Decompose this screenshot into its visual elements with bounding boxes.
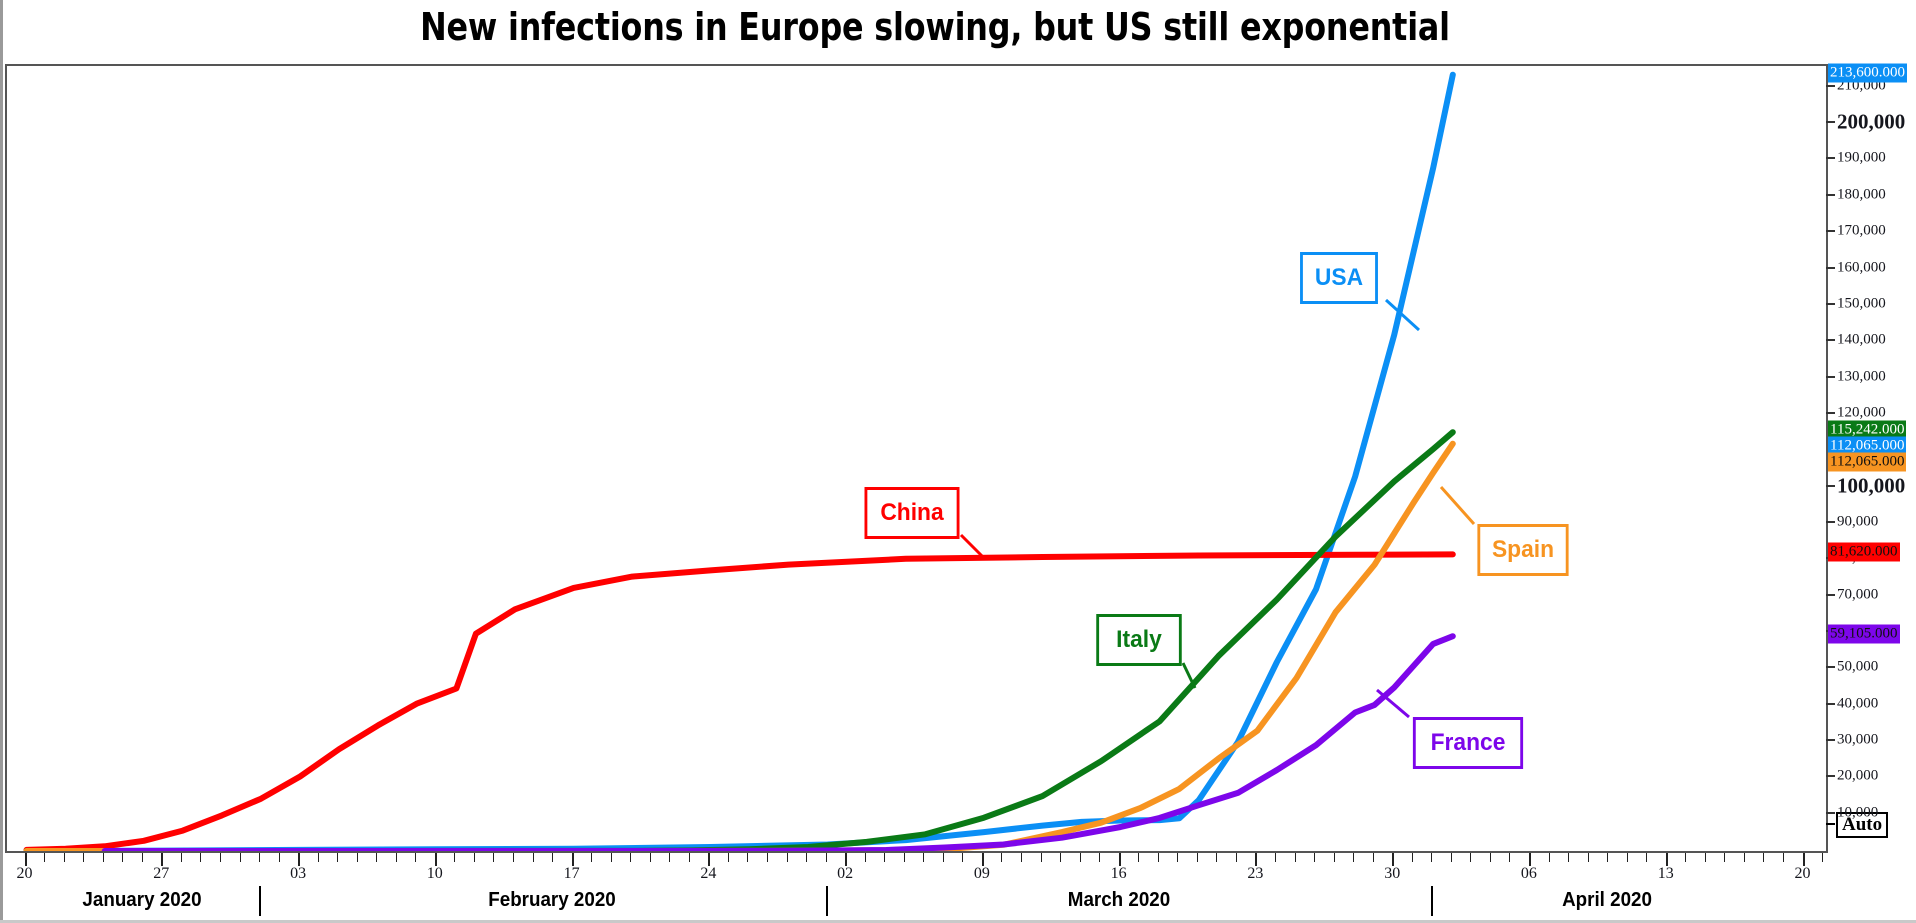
badge-spain: 112,065.000 bbox=[1828, 452, 1906, 471]
date-tick bbox=[415, 853, 416, 862]
date-tick bbox=[44, 853, 45, 862]
date-tick bbox=[1197, 853, 1198, 862]
axis-tick bbox=[1826, 485, 1835, 487]
leader-line-usa bbox=[1386, 300, 1419, 330]
date-tick bbox=[1549, 853, 1550, 862]
date-tick bbox=[1705, 853, 1706, 862]
callout-china[interactable]: China bbox=[865, 487, 960, 539]
axis-tick bbox=[1826, 666, 1835, 668]
axis-tick bbox=[1826, 521, 1835, 523]
date-tick bbox=[474, 853, 475, 862]
date-tick bbox=[806, 853, 807, 862]
leader-line-france bbox=[1377, 690, 1409, 717]
axis-tick-label: 100,000 bbox=[1837, 473, 1905, 498]
date-tick bbox=[1763, 853, 1764, 862]
axis-tick-label: 70,000 bbox=[1837, 586, 1878, 603]
date-tick-label: 24 bbox=[700, 865, 716, 883]
date-tick bbox=[1295, 853, 1296, 862]
axis-tick-label: 190,000 bbox=[1837, 150, 1886, 167]
axis-tick bbox=[1826, 703, 1835, 705]
axis-tick-label: 170,000 bbox=[1837, 223, 1886, 240]
date-tick bbox=[1158, 853, 1159, 862]
axis-tick-label: 30,000 bbox=[1837, 731, 1878, 748]
date-tick bbox=[1275, 853, 1276, 862]
date-tick bbox=[513, 853, 514, 862]
date-tick bbox=[611, 853, 612, 862]
date-tick bbox=[142, 853, 143, 862]
date-tick bbox=[1021, 853, 1022, 862]
axis-tick-label: 120,000 bbox=[1837, 404, 1886, 421]
date-tick bbox=[1353, 853, 1354, 862]
month-separator bbox=[259, 886, 261, 916]
badge-china: 81,620.000 bbox=[1828, 543, 1900, 562]
axis-tick bbox=[1826, 339, 1835, 341]
date-tick bbox=[1685, 853, 1686, 862]
axis-tick-label: 40,000 bbox=[1837, 695, 1878, 712]
date-tick bbox=[728, 853, 729, 862]
date-tick-label: 03 bbox=[290, 865, 306, 883]
date-tick bbox=[1177, 853, 1178, 862]
date-tick-label: 23 bbox=[1247, 865, 1263, 883]
date-tick bbox=[103, 853, 104, 862]
date-tick bbox=[689, 853, 690, 862]
callout-usa[interactable]: USA bbox=[1300, 252, 1378, 304]
date-tick-label: 20 bbox=[17, 865, 33, 883]
price-axis[interactable]: Auto 210,000200,000190,000180,000170,000… bbox=[1826, 64, 1916, 853]
date-tick bbox=[454, 853, 455, 862]
date-tick bbox=[1236, 853, 1237, 862]
axis-tick-label: 180,000 bbox=[1837, 186, 1886, 203]
date-tick-label: 16 bbox=[1111, 865, 1127, 883]
date-tick bbox=[767, 853, 768, 862]
axis-tick bbox=[1826, 230, 1835, 232]
month-label: April 2020 bbox=[1562, 889, 1652, 912]
axis-tick bbox=[1826, 812, 1835, 814]
date-tick bbox=[943, 853, 944, 862]
axis-tick bbox=[1826, 376, 1835, 378]
date-tick-label: 20 bbox=[1795, 865, 1811, 883]
date-tick bbox=[493, 853, 494, 862]
month-label: February 2020 bbox=[488, 889, 616, 912]
date-tick bbox=[181, 853, 182, 862]
date-tick bbox=[122, 853, 123, 862]
date-tick bbox=[240, 853, 241, 862]
date-tick bbox=[200, 853, 201, 862]
axis-tick bbox=[1826, 412, 1835, 414]
axis-tick-label: 10,000 bbox=[1837, 804, 1878, 821]
date-tick bbox=[1607, 853, 1608, 862]
date-tick-label: 30 bbox=[1384, 865, 1400, 883]
axis-tick bbox=[1826, 303, 1835, 305]
month-label: January 2020 bbox=[82, 889, 201, 912]
chart-window: New infections in Europe slowing, but US… bbox=[0, 0, 1916, 923]
callout-spain[interactable]: Spain bbox=[1477, 524, 1568, 576]
date-tick bbox=[64, 853, 65, 862]
month-label: March 2020 bbox=[1067, 889, 1169, 912]
date-tick bbox=[279, 853, 280, 862]
date-axis[interactable]: 2027031017240209162330061320January 2020… bbox=[5, 853, 1916, 923]
date-tick bbox=[396, 853, 397, 862]
plot-canvas bbox=[7, 66, 1826, 851]
date-tick bbox=[318, 853, 319, 862]
date-tick bbox=[357, 853, 358, 862]
date-tick bbox=[884, 853, 885, 862]
date-tick-label: 09 bbox=[974, 865, 990, 883]
axis-tick bbox=[1826, 594, 1835, 596]
date-tick-label: 27 bbox=[153, 865, 169, 883]
date-tick bbox=[923, 853, 924, 862]
date-tick bbox=[376, 853, 377, 862]
window-left-border bbox=[0, 0, 3, 923]
date-tick bbox=[1431, 853, 1432, 862]
axis-tick bbox=[1826, 157, 1835, 159]
plot-area[interactable] bbox=[5, 64, 1826, 853]
date-tick bbox=[1001, 853, 1002, 862]
axis-tick-label: 200,000 bbox=[1837, 110, 1905, 135]
date-tick bbox=[826, 853, 827, 862]
date-tick bbox=[747, 853, 748, 862]
date-tick bbox=[591, 853, 592, 862]
axis-tick-label: 130,000 bbox=[1837, 368, 1886, 385]
axis-tick bbox=[1826, 267, 1835, 269]
date-tick-label: 06 bbox=[1521, 865, 1537, 883]
callout-france[interactable]: France bbox=[1413, 717, 1523, 769]
date-tick bbox=[787, 853, 788, 862]
chart-title: New infections in Europe slowing, but US… bbox=[65, 4, 1804, 50]
date-tick bbox=[1490, 853, 1491, 862]
axis-tick-label: 20,000 bbox=[1837, 768, 1878, 785]
badge-france: 59,105.000 bbox=[1828, 625, 1900, 644]
date-tick bbox=[1216, 853, 1217, 862]
date-tick-label: 02 bbox=[837, 865, 853, 883]
date-tick bbox=[337, 853, 338, 862]
date-tick bbox=[1060, 853, 1061, 862]
date-tick bbox=[1568, 853, 1569, 862]
date-tick bbox=[904, 853, 905, 862]
date-tick bbox=[552, 853, 553, 862]
date-tick-label: 17 bbox=[564, 865, 580, 883]
date-tick bbox=[1099, 853, 1100, 862]
date-tick bbox=[1451, 853, 1452, 862]
axis-tick-label: 140,000 bbox=[1837, 332, 1886, 349]
axis-tick-label: 160,000 bbox=[1837, 259, 1886, 276]
date-tick bbox=[1412, 853, 1413, 862]
date-tick bbox=[865, 853, 866, 862]
date-tick bbox=[1373, 853, 1374, 862]
date-tick bbox=[1627, 853, 1628, 862]
date-tick-label: 10 bbox=[427, 865, 443, 883]
axis-tick bbox=[1826, 85, 1835, 87]
date-tick bbox=[1724, 853, 1725, 862]
date-tick bbox=[1080, 853, 1081, 862]
axis-tick-label: 50,000 bbox=[1837, 659, 1878, 676]
date-tick bbox=[1314, 853, 1315, 862]
leader-line-china bbox=[961, 535, 982, 556]
date-tick bbox=[1509, 853, 1510, 862]
date-tick bbox=[1334, 853, 1335, 862]
date-tick bbox=[1588, 853, 1589, 862]
date-tick bbox=[220, 853, 221, 862]
date-tick bbox=[669, 853, 670, 862]
axis-tick bbox=[1826, 739, 1835, 741]
leader-line-spain bbox=[1441, 487, 1474, 524]
leader-line-italy bbox=[1183, 663, 1195, 688]
axis-tick-label: 150,000 bbox=[1837, 295, 1886, 312]
date-tick bbox=[1041, 853, 1042, 862]
date-tick-label: 13 bbox=[1658, 865, 1674, 883]
badge-usa: 213,600.000 bbox=[1828, 63, 1907, 82]
date-tick bbox=[962, 853, 963, 862]
callout-leader-lines bbox=[7, 66, 1824, 851]
date-tick bbox=[259, 853, 260, 862]
axis-tick bbox=[1826, 121, 1835, 123]
date-tick bbox=[1783, 853, 1784, 862]
date-tick bbox=[650, 853, 651, 862]
axis-tick bbox=[1826, 194, 1835, 196]
date-tick bbox=[630, 853, 631, 862]
callout-italy[interactable]: Italy bbox=[1096, 614, 1182, 666]
date-tick bbox=[1822, 853, 1823, 862]
auto-tick bbox=[1826, 823, 1835, 825]
date-tick bbox=[1646, 853, 1647, 862]
date-tick bbox=[1470, 853, 1471, 862]
date-tick bbox=[533, 853, 534, 862]
date-tick bbox=[83, 853, 84, 862]
axis-tick bbox=[1826, 775, 1835, 777]
month-separator bbox=[1431, 886, 1433, 916]
axis-tick-label: 90,000 bbox=[1837, 513, 1878, 530]
date-tick bbox=[1138, 853, 1139, 862]
date-tick bbox=[1744, 853, 1745, 862]
month-separator bbox=[826, 886, 828, 916]
